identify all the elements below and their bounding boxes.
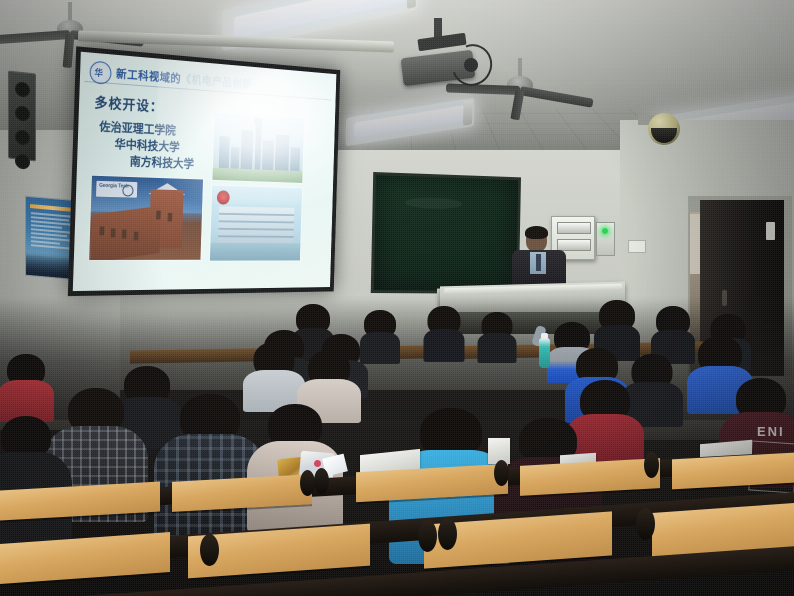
wall-outlet bbox=[628, 240, 646, 253]
chalkboard bbox=[371, 172, 521, 294]
student bbox=[0, 354, 52, 420]
switch-box[interactable] bbox=[596, 222, 615, 256]
desk-divider bbox=[644, 452, 659, 478]
hust-campus-photo bbox=[212, 112, 304, 183]
desk-divider bbox=[418, 520, 437, 552]
desk-divider bbox=[314, 468, 329, 494]
lecture-hall-photo: 华 新工科视域的《机电产品创新 多校开设： 佐治亚理工学院 华中科技大学 南方科… bbox=[0, 0, 794, 596]
sustech-logo-icon bbox=[217, 190, 230, 204]
desk-divider bbox=[494, 460, 509, 486]
list-item: 南方科技大学 bbox=[130, 154, 195, 173]
student bbox=[0, 416, 66, 546]
student bbox=[160, 394, 260, 534]
jacket-text: ENI bbox=[757, 424, 785, 439]
georgia-tech-logo-icon: Georgia Tech bbox=[96, 181, 137, 198]
projection-screen: 华 新工科视域的《机电产品创新 多校开设： 佐治亚理工学院 华中科技大学 南方科… bbox=[68, 46, 341, 296]
slide: 华 新工科视域的《机电产品创新 多校开设： 佐治亚理工学院 华中科技大学 南方科… bbox=[73, 52, 337, 291]
sustech-campus-photo bbox=[210, 185, 302, 260]
student bbox=[360, 310, 400, 364]
slide-title-main: 新工科视域的 bbox=[116, 69, 181, 86]
desk-divider bbox=[200, 534, 219, 566]
student bbox=[424, 306, 464, 362]
status-led-icon bbox=[602, 228, 608, 234]
desk-divider bbox=[636, 508, 655, 540]
logo-text: 华 bbox=[94, 66, 103, 80]
speaker-icon bbox=[8, 71, 36, 162]
desk-divider bbox=[438, 518, 457, 550]
slide-lead-text: 多校开设： bbox=[94, 93, 164, 117]
georgia-tech-campus-photo: Georgia Tech bbox=[89, 176, 203, 260]
security-camera-icon bbox=[648, 113, 682, 147]
door-sign bbox=[766, 222, 775, 240]
list-item: 华中科技大学 bbox=[114, 136, 194, 156]
student bbox=[478, 312, 516, 364]
desk-divider bbox=[300, 470, 315, 496]
slide-school-list: 佐治亚理工学院 华中科技大学 南方科技大学 bbox=[98, 119, 195, 173]
water-bottle bbox=[539, 338, 550, 368]
